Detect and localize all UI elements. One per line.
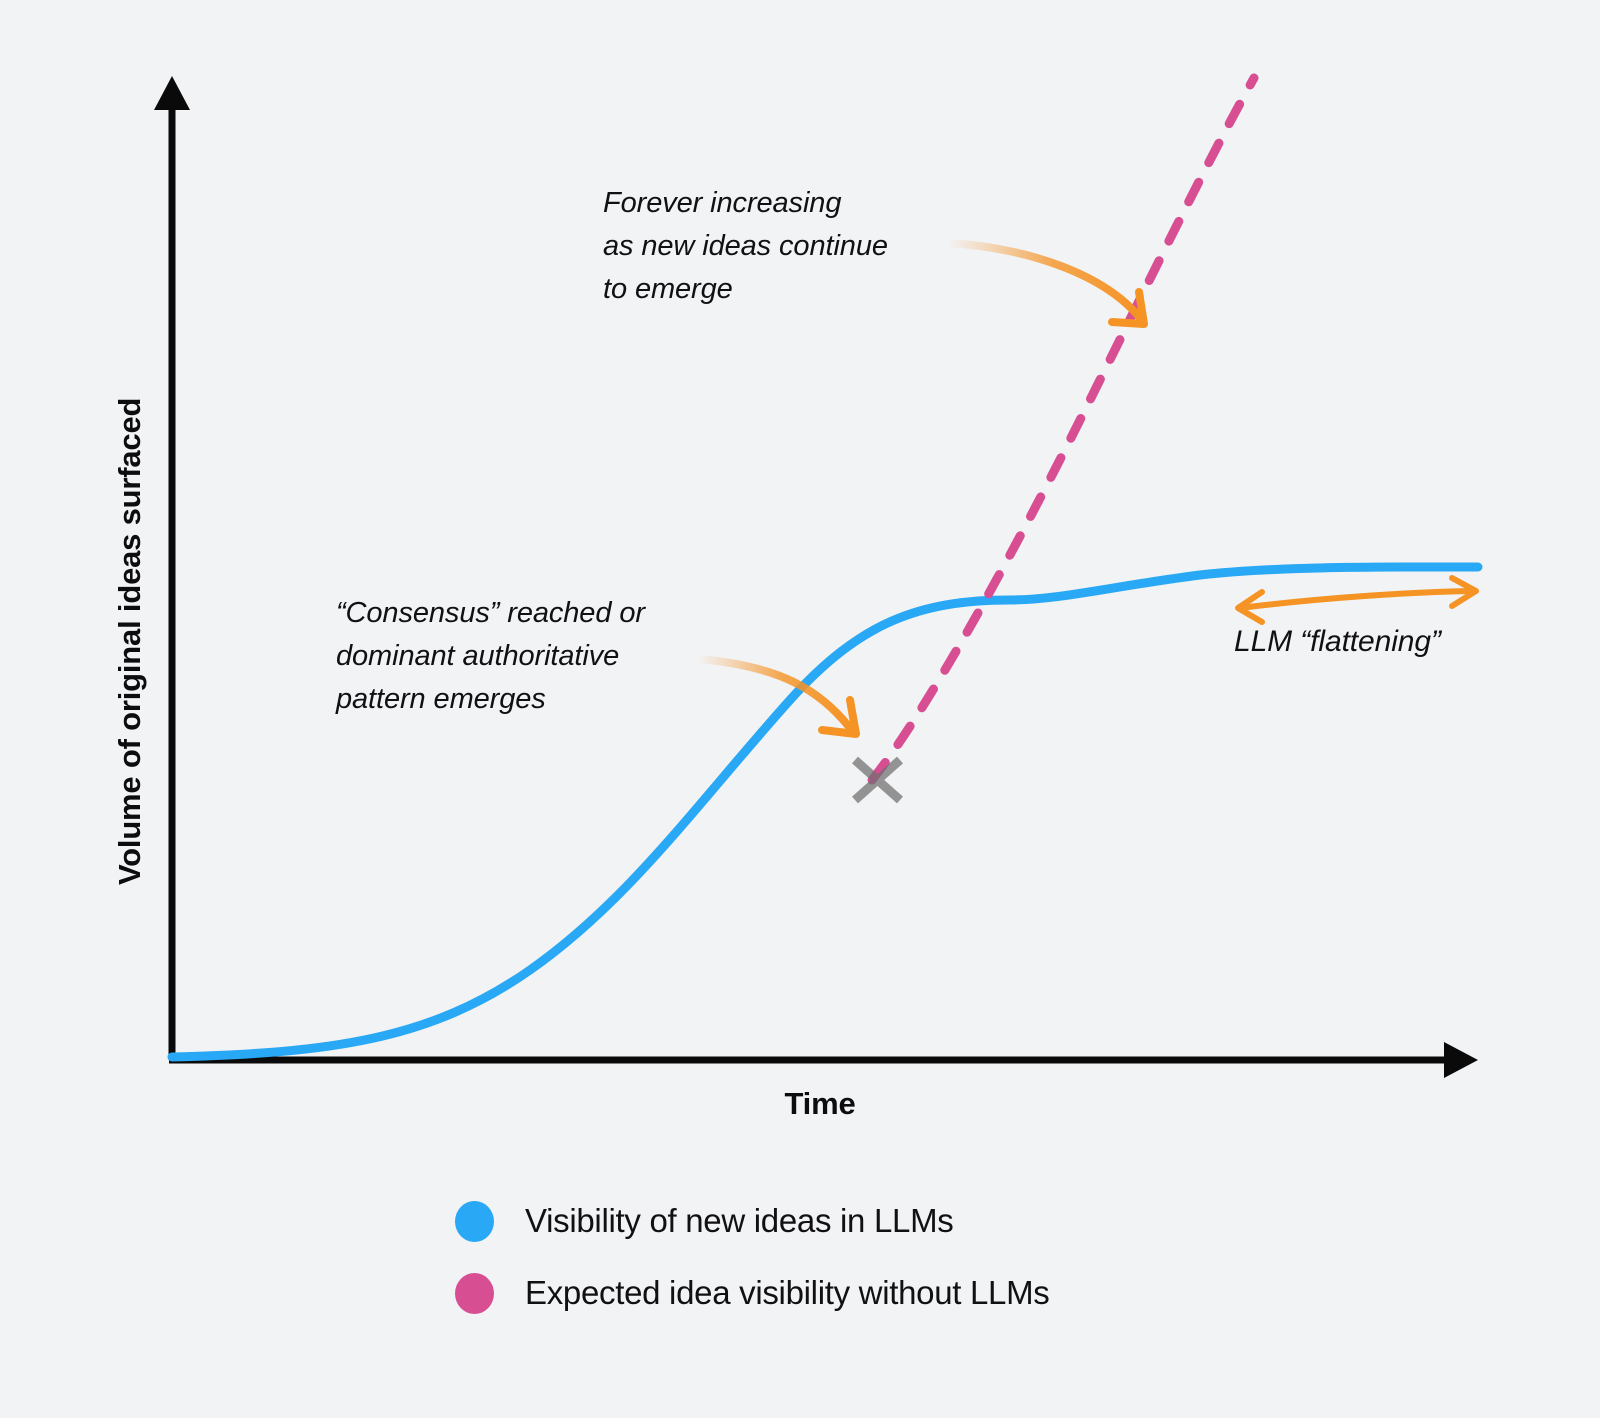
annotation-consensus-reached: “Consensus” reached or dominant authorit…	[336, 592, 645, 721]
legend-label-llm-visibility: Visibility of new ideas in LLMs	[525, 1202, 953, 1240]
annotation-forever-increasing: Forever increasing as new ideas continue…	[603, 182, 888, 311]
series-line-expected-visibility	[872, 78, 1254, 780]
x-axis-label: Time	[640, 1086, 1000, 1122]
legend-dot-icon-pink	[455, 1273, 494, 1314]
annotation-llm-flattening: LLM “flattening”	[1234, 622, 1441, 662]
y-axis-label: Volume of original ideas surfaced	[108, 205, 152, 885]
x-axis-arrowhead	[1444, 1042, 1478, 1078]
y-axis-arrowhead	[154, 76, 190, 110]
legend-item-expected-visibility: Expected idea visibility without LLMs	[455, 1257, 1275, 1329]
chart-figure: Forever increasing as new ideas continue…	[0, 0, 1600, 1418]
legend-item-llm-visibility: Visibility of new ideas in LLMs	[455, 1185, 1275, 1257]
chart-legend: Visibility of new ideas in LLMs Expected…	[455, 1185, 1275, 1329]
flattening-arrow-line	[1240, 591, 1472, 608]
legend-label-expected-visibility: Expected idea visibility without LLMs	[525, 1274, 1050, 1312]
callout-arrow-forever-increasing	[948, 243, 1140, 318]
legend-dot-icon-blue	[455, 1201, 494, 1242]
